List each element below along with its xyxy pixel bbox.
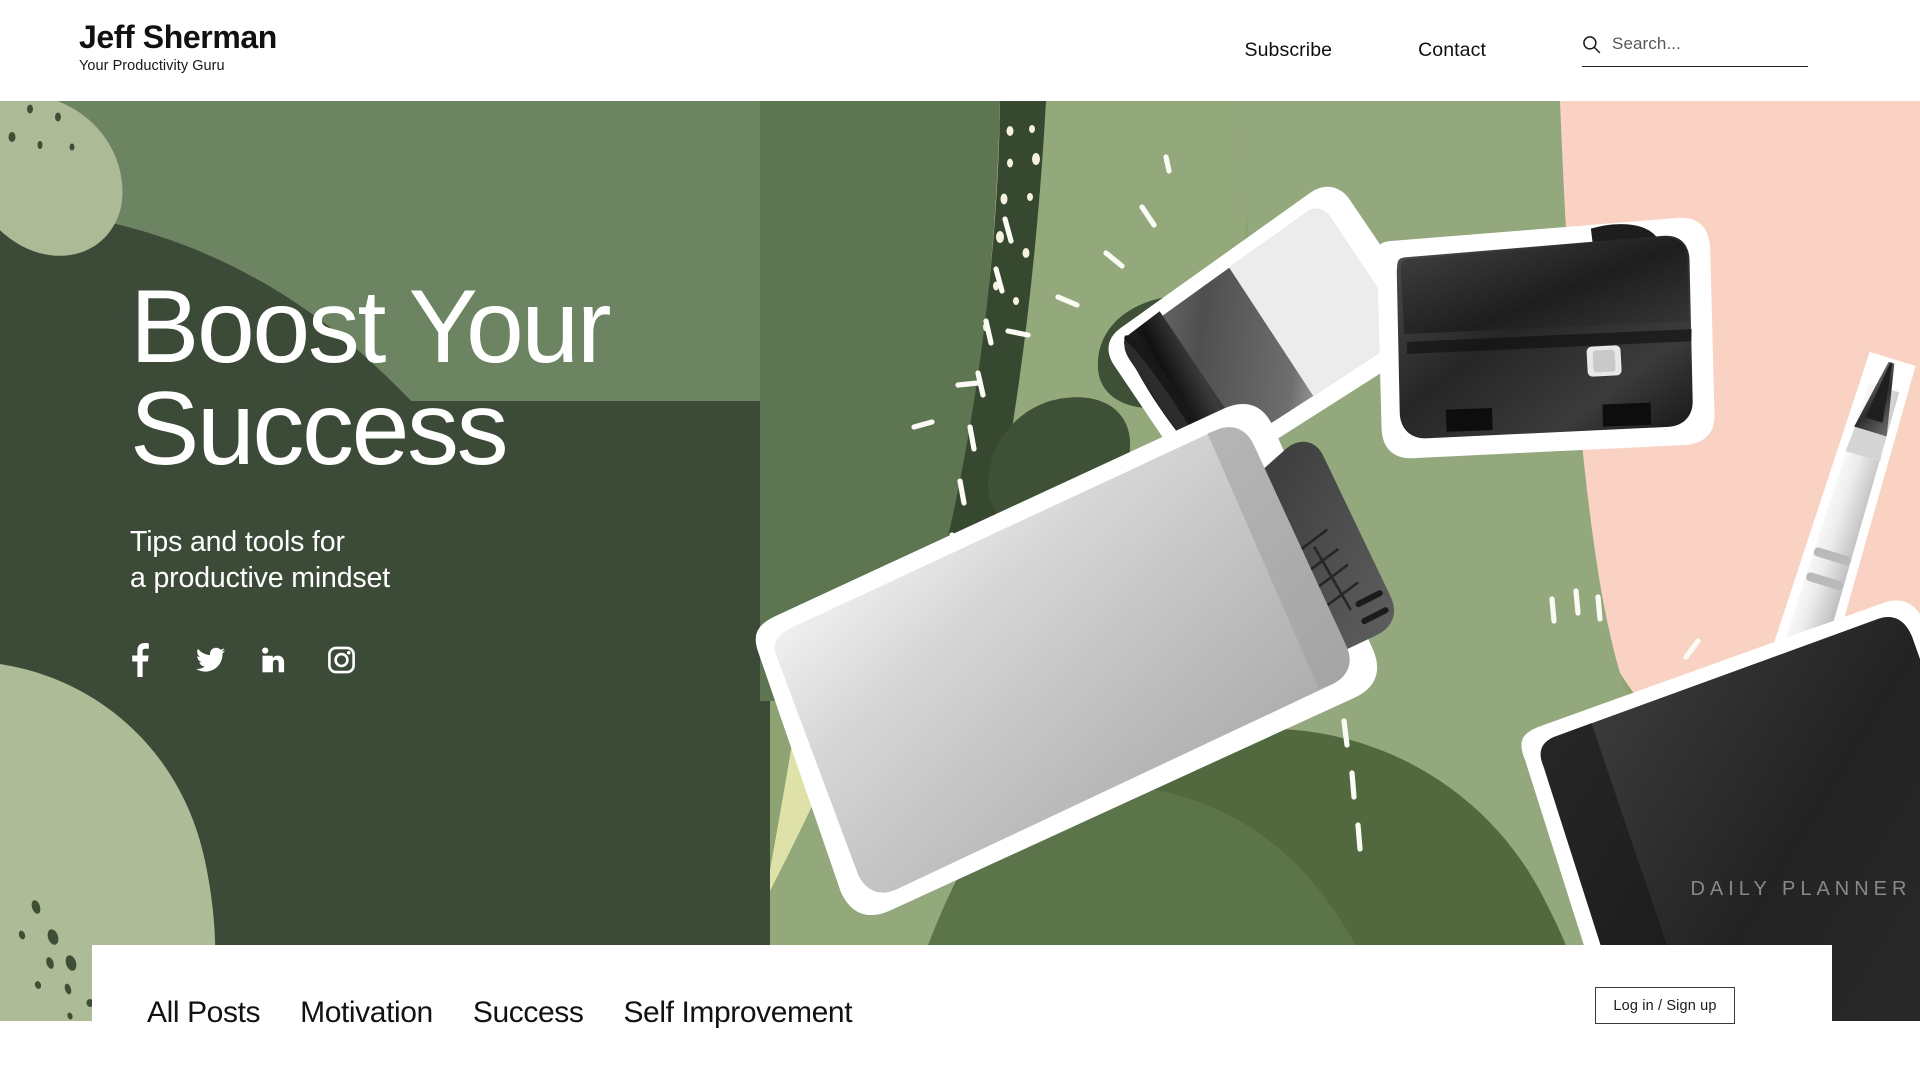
search-field[interactable]: [1582, 34, 1808, 67]
category-self-improvement[interactable]: Self Improvement: [623, 996, 852, 1030]
bottom-left-mask: [0, 1021, 92, 1080]
search-input[interactable]: [1612, 34, 1798, 54]
hero-copy: Boost Your Success Tips and tools for a …: [130, 276, 609, 677]
page-root: Jeff Sherman Your Productivity Guru Subs…: [0, 0, 1920, 1080]
brand-name: Jeff Sherman: [79, 18, 277, 56]
nav-link-subscribe[interactable]: Subscribe: [1244, 39, 1332, 62]
hero-title: Boost Your Success: [130, 276, 609, 481]
instagram-icon: [328, 643, 355, 677]
social-link-linkedin[interactable]: [262, 643, 302, 677]
svg-text:DAILY PLANNER: DAILY PLANNER: [1690, 878, 1911, 900]
category-all-posts[interactable]: All Posts: [147, 996, 260, 1030]
linkedin-icon: [262, 643, 288, 677]
search-icon: [1582, 35, 1601, 54]
hero-subtitle: Tips and tools for a productive mindset: [130, 525, 609, 597]
category-motivation[interactable]: Motivation: [300, 996, 433, 1030]
header-nav: Subscribe Contact: [1244, 0, 1920, 101]
social-link-instagram[interactable]: [328, 643, 368, 677]
category-success[interactable]: Success: [473, 996, 584, 1030]
facebook-icon: [130, 643, 149, 677]
hero-banner: DAILY PLANNER Boost Your Success Tips an…: [0, 101, 1920, 1021]
social-links: [130, 643, 609, 677]
login-signup-button[interactable]: Log in / Sign up: [1595, 987, 1735, 1024]
category-list: All Posts Motivation Success Self Improv…: [147, 996, 852, 1030]
nav-link-contact[interactable]: Contact: [1418, 39, 1486, 62]
social-link-facebook[interactable]: [130, 643, 170, 677]
twitter-icon: [196, 643, 225, 677]
social-link-twitter[interactable]: [196, 643, 236, 677]
brand-tagline: Your Productivity Guru: [79, 57, 277, 75]
category-bar: All Posts Motivation Success Self Improv…: [92, 945, 1832, 1080]
site-header: Jeff Sherman Your Productivity Guru Subs…: [0, 0, 1920, 101]
brand-logo[interactable]: Jeff Sherman Your Productivity Guru: [79, 18, 277, 75]
